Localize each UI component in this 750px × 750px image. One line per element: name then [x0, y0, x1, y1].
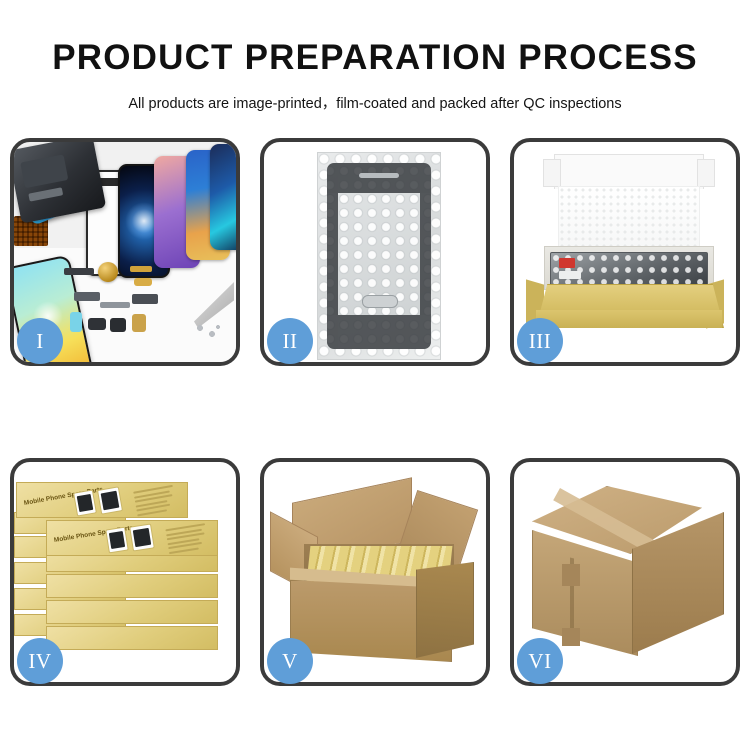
page-subtitle: All products are image-printed，film-coat…	[0, 75, 750, 113]
step-numeral: VI	[528, 651, 551, 672]
process-step-6[interactable]: VI	[510, 458, 740, 686]
packed-screen-icon	[550, 252, 708, 286]
coil-part-icon	[98, 262, 118, 282]
home-button-icon	[362, 295, 398, 308]
step-numeral: IV	[28, 651, 51, 672]
step-badge-6: VI	[517, 638, 563, 684]
process-steps-grid: I II	[10, 138, 740, 738]
box-lid-icon	[554, 154, 704, 189]
process-step-1[interactable]: I	[10, 138, 240, 366]
step-badge-2: II	[267, 318, 313, 364]
step-badge-3: III	[517, 318, 563, 364]
kraft-box-stack-item	[46, 600, 218, 624]
box-thumbnail-icon	[73, 489, 97, 516]
header: PRODUCT PREPARATION PROCESS All products…	[0, 0, 750, 113]
box-thumbnail-icon	[97, 486, 123, 514]
carton-side-face	[416, 562, 474, 658]
process-step-4[interactable]: Mobile Phone Spare Parts Mobile Phone Sp…	[10, 458, 240, 686]
box-thumbnail-icon	[129, 523, 155, 551]
phone-screen-cyan-icon	[210, 144, 236, 250]
step-badge-1: I	[17, 318, 63, 364]
product-preparation-infographic: PRODUCT PREPARATION PROCESS All products…	[0, 0, 750, 750]
process-step-2[interactable]: II	[260, 138, 490, 366]
step-numeral: III	[529, 331, 551, 352]
bubble-wrap-icon	[317, 152, 441, 360]
process-step-5[interactable]: V	[260, 458, 490, 686]
kraft-box-stack-item	[46, 574, 218, 598]
step-numeral: I	[36, 331, 44, 352]
process-step-3[interactable]: III	[510, 138, 740, 366]
step-badge-4: IV	[17, 638, 63, 684]
screen-glass-icon	[327, 163, 431, 349]
kraft-box-printed-front: Mobile Phone Spare Parts	[46, 520, 218, 556]
kraft-box-printed-back: Mobile Phone Spare Parts	[16, 482, 188, 518]
kraft-box-stack-item	[46, 626, 218, 650]
step-numeral: II	[283, 331, 298, 352]
box-thumbnail-icon	[105, 527, 129, 554]
step-numeral: V	[282, 651, 298, 672]
screws-icon	[196, 324, 222, 340]
page-title: PRODUCT PREPARATION PROCESS	[0, 0, 750, 75]
step-badge-5: V	[267, 638, 313, 684]
